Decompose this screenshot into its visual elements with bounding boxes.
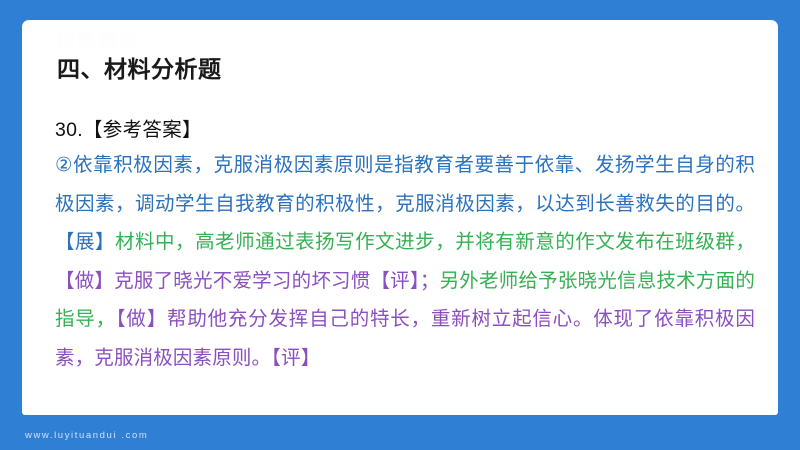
footer-url: www.luyituandui .com bbox=[25, 430, 148, 441]
answer-label: 30.【参考答案】 bbox=[55, 113, 202, 142]
answer-segment: 【做】克服了晓光不爱学习的坏习惯【评】； bbox=[55, 270, 440, 292]
answer-body: ②依靠积极因素，克服消极因素原则是指教育者要善于依靠、发扬学生自身的积极因素，调… bbox=[55, 146, 755, 377]
slide-canvas: 粉笔教师 四、材料分析题 30.【参考答案】 ②依靠积极因素，克服消极因素原则是… bbox=[0, 0, 800, 450]
answer-segment: 【做】帮助他充分发挥自己的特长，重新树立起信心。体现了依靠积极因素，克服消极因素… bbox=[55, 308, 755, 369]
card-watermark: 粉笔教师 bbox=[56, 26, 140, 53]
content-card: 粉笔教师 四、材料分析题 30.【参考答案】 ②依靠积极因素，克服消极因素原则是… bbox=[22, 20, 778, 415]
answer-segment: 材料中，高老师通过表扬写作文进步，并将有新意的作文发布在班级群， bbox=[115, 231, 755, 253]
section-heading: 四、材料分析题 bbox=[57, 50, 222, 84]
